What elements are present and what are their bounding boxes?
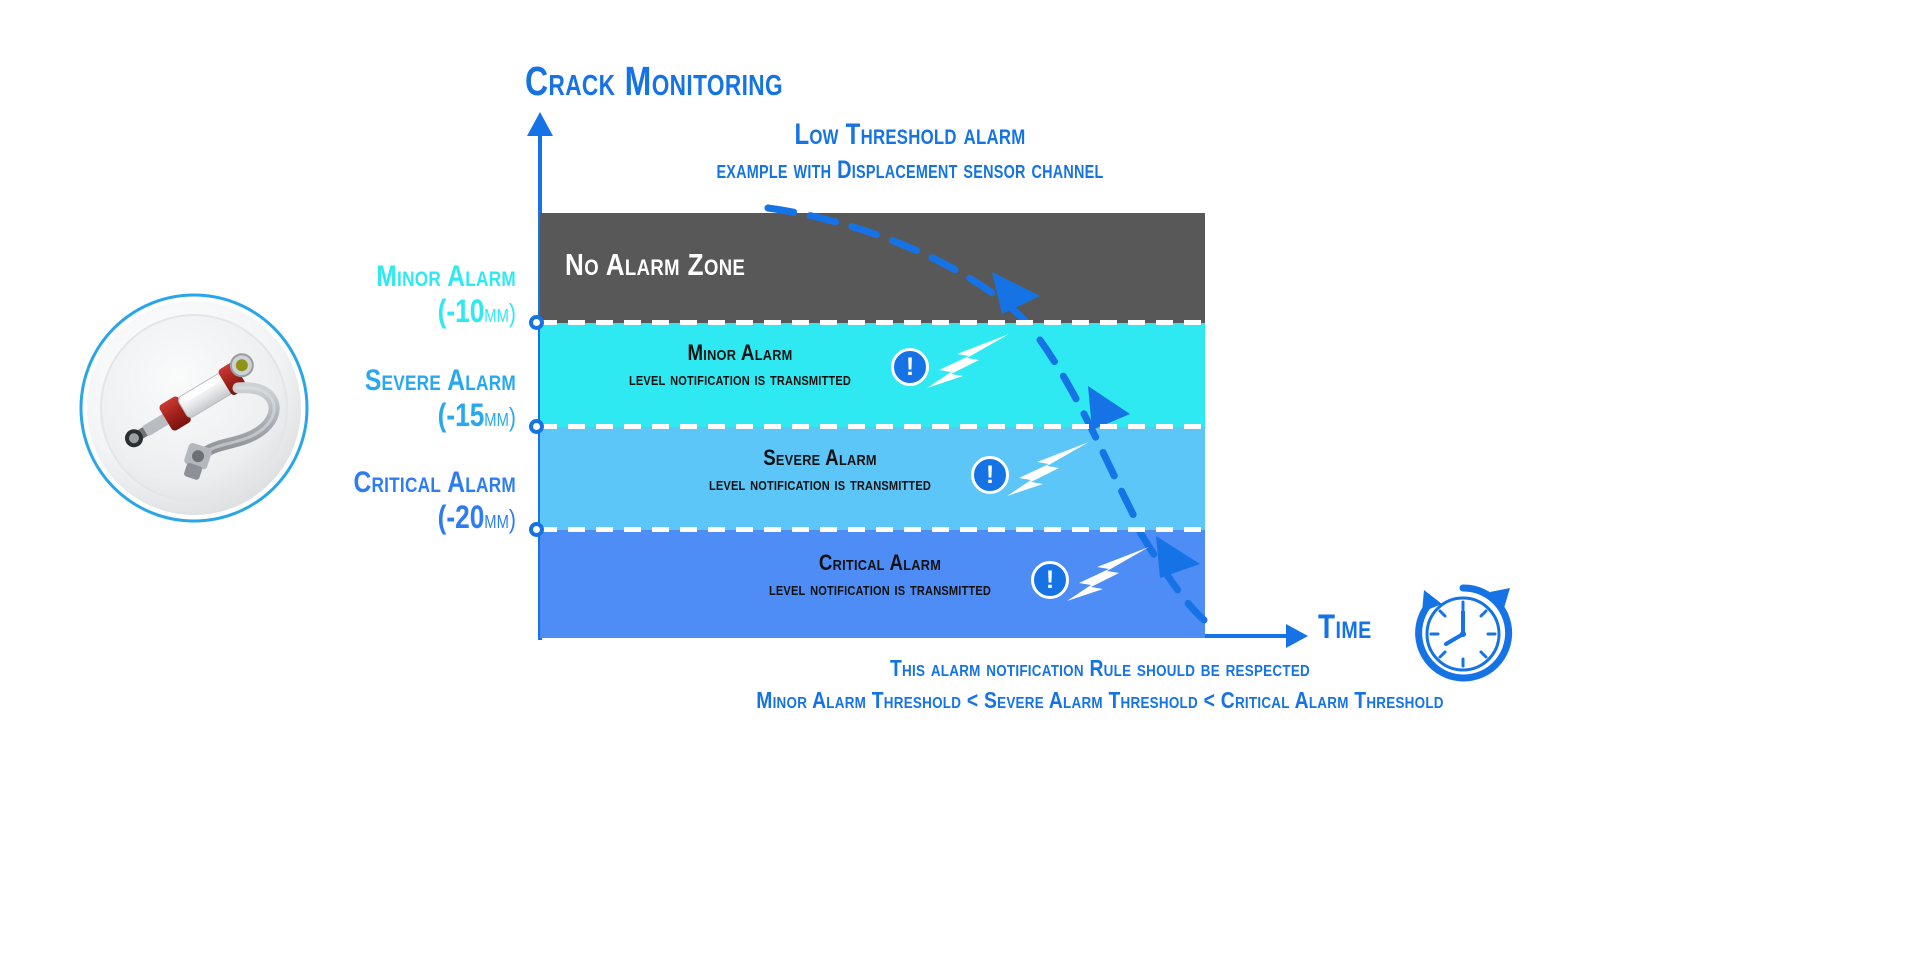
severe-value-unit: mm)	[484, 402, 516, 432]
axis-label-critical-alarm: Critical Alarm (-20mm)	[96, 468, 516, 533]
annotation-severe-alarm: Severe Alarm level notification is trans…	[640, 445, 1000, 496]
axis-label-severe-alarm: Severe Alarm (-15mm)	[96, 366, 516, 431]
threshold-line-minor	[540, 320, 1205, 325]
axis-label-critical-name: Critical Alarm	[172, 468, 516, 498]
x-axis-time-label: Time	[1318, 608, 1372, 647]
annotation-minor-alarm: Minor Alarm level notification is transm…	[560, 340, 920, 391]
axis-label-minor-alarm: Minor Alarm (-10mm)	[96, 262, 516, 327]
annotation-minor-title: Minor Alarm	[587, 340, 893, 366]
subtitle-block: Low Threshold alarm example with Displac…	[600, 118, 1220, 185]
page-title: Crack Monitoring	[525, 58, 783, 105]
axis-label-critical-value: (-20mm)	[172, 501, 516, 533]
subtitle-line-1: Low Threshold alarm	[662, 118, 1158, 152]
axis-label-minor-name: Minor Alarm	[172, 262, 516, 292]
annotation-severe-sub: level notification is transmitted	[667, 474, 973, 496]
footer-line-2: Minor Alarm Threshold < Severe Alarm Thr…	[617, 687, 1583, 714]
axis-label-severe-value: (-15mm)	[172, 399, 516, 431]
annotation-severe-title: Severe Alarm	[667, 445, 973, 471]
subtitle-line-2: example with Displacement sensor channel	[662, 156, 1158, 185]
x-axis-arrow-icon	[1286, 624, 1308, 648]
threshold-line-critical	[540, 527, 1205, 532]
threshold-marker-minor	[529, 315, 544, 330]
critical-value-unit: mm)	[484, 504, 516, 534]
alert-badge-critical-icon: !	[1031, 561, 1069, 599]
footer-line-1: This alarm notification Rule should be r…	[617, 655, 1583, 682]
axis-label-minor-value: (-10mm)	[172, 295, 516, 327]
zone-no-alarm-label: No Alarm Zone	[565, 247, 745, 283]
annotation-critical-title: Critical Alarm	[727, 550, 1033, 576]
minor-value-number: (-10	[438, 293, 485, 329]
annotation-critical-alarm: Critical Alarm level notification is tra…	[700, 550, 1060, 601]
severe-value-number: (-15	[438, 397, 485, 433]
minor-value-unit: mm)	[484, 298, 516, 328]
critical-value-number: (-20	[438, 499, 485, 535]
threshold-line-severe	[540, 424, 1205, 429]
alert-badge-severe-icon: !	[971, 456, 1009, 494]
alert-badge-minor-icon: !	[891, 348, 929, 386]
footer-rule-block: This alarm notification Rule should be r…	[525, 655, 1675, 714]
axis-label-severe-name: Severe Alarm	[172, 366, 516, 396]
threshold-marker-critical	[529, 522, 544, 537]
annotation-critical-sub: level notification is transmitted	[727, 579, 1033, 601]
annotation-minor-sub: level notification is transmitted	[587, 369, 893, 391]
threshold-marker-severe	[529, 419, 544, 434]
